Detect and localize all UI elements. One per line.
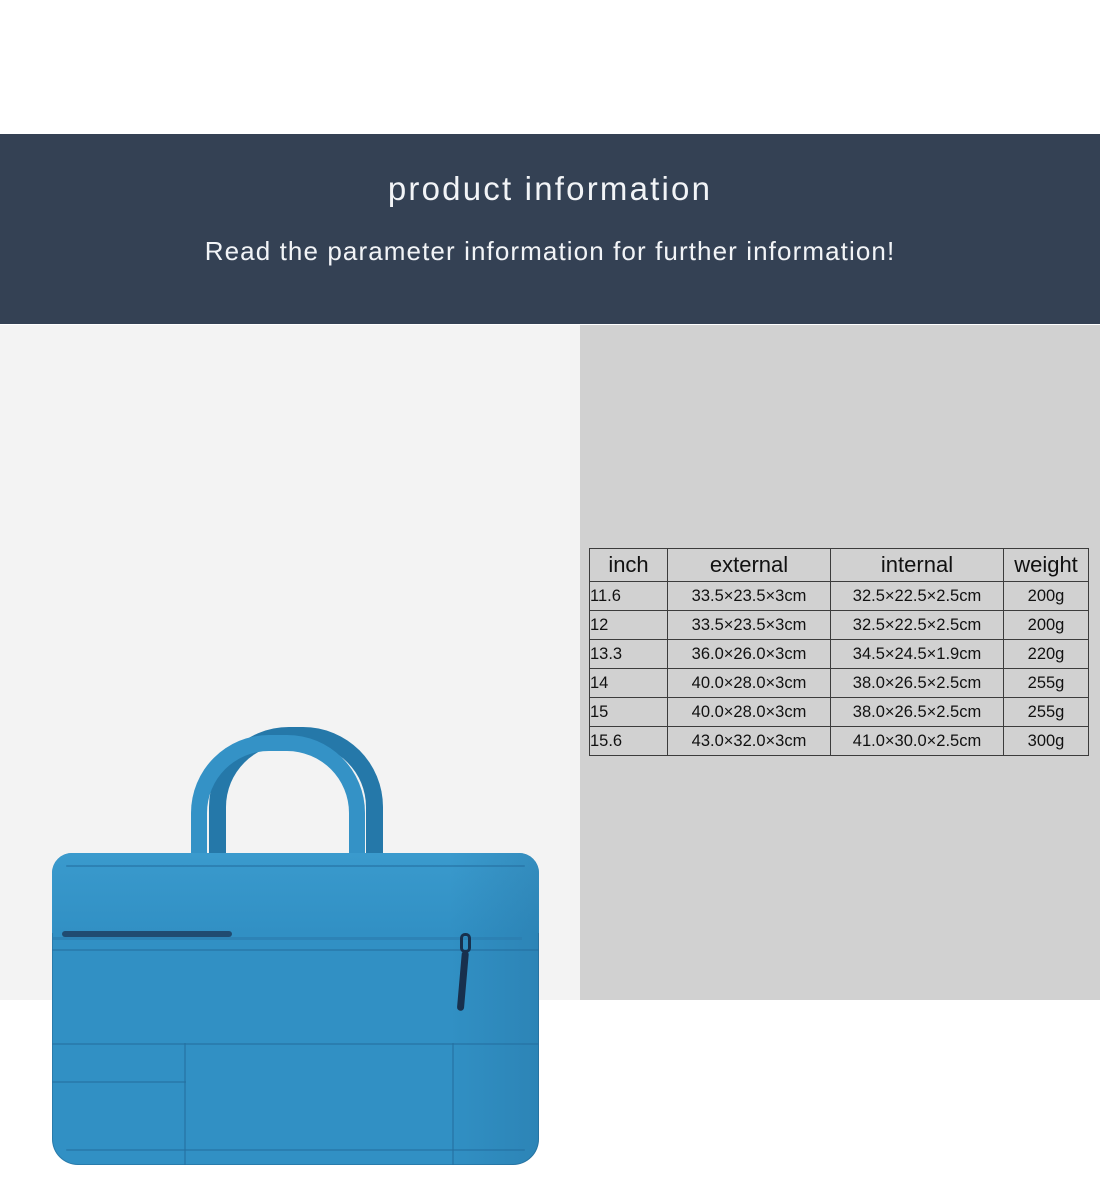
cell-weight: 220g xyxy=(1004,640,1089,669)
cell-internal: 38.0×26.5×2.5cm xyxy=(831,698,1004,727)
bag-slip-pocket-divider xyxy=(184,1043,186,1165)
column-header-weight: weight xyxy=(1004,549,1089,582)
table-row: 12 33.5×23.5×3cm 32.5×22.5×2.5cm 200g xyxy=(590,611,1089,640)
cell-internal: 32.5×22.5×2.5cm xyxy=(831,582,1004,611)
cell-internal: 34.5×24.5×1.9cm xyxy=(831,640,1004,669)
cell-weight: 200g xyxy=(1004,611,1089,640)
bag-slip-pocket-edge xyxy=(52,1081,186,1083)
bag-zipper-track xyxy=(52,937,522,940)
column-header-external: external xyxy=(668,549,831,582)
cell-inch: 15.6 xyxy=(590,727,668,756)
bag-bottom-seam xyxy=(66,1149,525,1151)
cell-weight: 255g xyxy=(1004,698,1089,727)
column-header-internal: internal xyxy=(831,549,1004,582)
table-header-row: inch external internal weight xyxy=(590,549,1089,582)
bag-zipper-pull xyxy=(460,933,471,1011)
cell-external: 40.0×28.0×3cm xyxy=(668,698,831,727)
column-header-inch: inch xyxy=(590,549,668,582)
cell-weight: 200g xyxy=(1004,582,1089,611)
cell-inch: 12 xyxy=(590,611,668,640)
cell-weight: 300g xyxy=(1004,727,1089,756)
table-row: 15 40.0×28.0×3cm 38.0×26.5×2.5cm 255g xyxy=(590,698,1089,727)
cell-external: 40.0×28.0×3cm xyxy=(668,669,831,698)
table-row: 13.3 36.0×26.0×3cm 34.5×24.5×1.9cm 220g xyxy=(590,640,1089,669)
bag-body xyxy=(52,853,539,1165)
table-body: 11.6 33.5×23.5×3cm 32.5×22.5×2.5cm 200g … xyxy=(590,582,1089,756)
laptop-bag-illustration xyxy=(50,725,540,1195)
cell-internal: 32.5×22.5×2.5cm xyxy=(831,611,1004,640)
bag-top-seam xyxy=(66,865,525,867)
cell-internal: 41.0×30.0×2.5cm xyxy=(831,727,1004,756)
header-banner: product information Read the parameter i… xyxy=(0,134,1100,324)
table-row: 14 40.0×28.0×3cm 38.0×26.5×2.5cm 255g xyxy=(590,669,1089,698)
table-header: inch external internal weight xyxy=(590,549,1089,582)
product-image-panel xyxy=(0,325,580,1000)
cell-internal: 38.0×26.5×2.5cm xyxy=(831,669,1004,698)
cell-inch: 13.3 xyxy=(590,640,668,669)
table-row: 11.6 33.5×23.5×3cm 32.5×22.5×2.5cm 200g xyxy=(590,582,1089,611)
page-title: product information xyxy=(0,170,1100,208)
bag-right-pocket-divider xyxy=(452,1043,454,1165)
table-row: 15.6 43.0×32.0×3cm 41.0×30.0×2.5cm 300g xyxy=(590,727,1089,756)
bag-mid-seam xyxy=(52,1043,539,1045)
cell-weight: 255g xyxy=(1004,669,1089,698)
cell-inch: 15 xyxy=(590,698,668,727)
zipper-head-icon xyxy=(460,933,471,953)
cell-external: 43.0×32.0×3cm xyxy=(668,727,831,756)
cell-inch: 11.6 xyxy=(590,582,668,611)
cell-external: 33.5×23.5×3cm xyxy=(668,582,831,611)
page-subtitle: Read the parameter information for furth… xyxy=(0,236,1100,267)
cell-inch: 14 xyxy=(590,669,668,698)
specification-table: inch external internal weight 11.6 33.5×… xyxy=(589,548,1089,756)
cell-external: 36.0×26.0×3cm xyxy=(668,640,831,669)
cell-external: 33.5×23.5×3cm xyxy=(668,611,831,640)
